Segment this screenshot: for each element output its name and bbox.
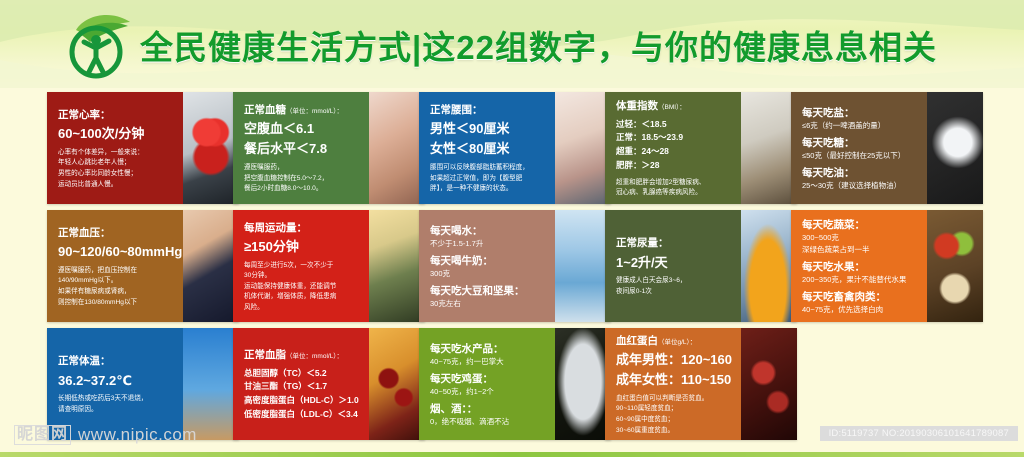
footer-bar [0,452,1024,457]
card-group-value: 300~500克 [802,233,918,244]
card-note-line: 餐后2小时血糖8.0～10.0。 [244,184,360,195]
blood-pressure-cuff-photo [183,210,239,322]
health-card-vegetables-fruit-meat: 每天吃蔬菜：300~500克深绿色蔬菜占到一半每天吃水果：200~350克，果汁… [791,210,983,322]
card-title: 正常血脂（单位：mmol/L）： [244,348,360,362]
card-note: 心率有个体差异，一般来说：年轻人心跳比老年人慢；男性的心率比同龄女性慢；运动员比… [58,148,174,190]
card-note-line: 140/90mmHg以下。 [58,276,174,287]
urine-sample-cup-photo [741,210,797,322]
health-card-blood-pressure: 正常血压：90~120/60~80mmHg遵医嘱服药，把血压控制在140/90m… [47,210,239,322]
card-text-blood-glucose: 正常血糖（单位：mmol/L）：空腹血＜6.1餐后水平＜7.8遵医嘱服药，把空腹… [233,92,369,204]
card-group-title: 每天吃畜禽肉类： [802,290,918,304]
card-note-line: 把空腹血糖控制在5.0～7.2， [244,174,360,185]
card-value: 60~100次/分钟 [58,126,174,143]
card-note-line: 健康成人白天会尿3~6， [616,276,732,287]
fingertip-glucose-test-photo [369,92,425,204]
health-card-aquatic-egg-smoke: 每天吃水产品：40~75克，约一巴掌大每天吃鸡蛋：40~50克，约1~2个烟、酒… [419,328,611,440]
card-text-blood-lipids: 正常血脂（单位：mmol/L）：总胆固醇（TC）＜5.2甘油三酯（TG）＜1.7… [233,328,369,440]
card-note: 健康成人白天会尿3~6，夜间尿0-1次 [616,276,732,297]
card-group: 每天吃糖：≤50克（最好控制在25克以下） [802,136,918,162]
pouring-water-glass-photo [555,210,611,322]
card-note-line: 遵医嘱服药，把血压控制在 [58,266,174,277]
card-group-value: 40~75克，约一巴掌大 [430,357,546,368]
card-group-value: 300克 [430,269,546,280]
weight-scale-photo [741,92,797,204]
card-value-list: 过轻：＜18.5正常：18.5～23.9超重：24～28肥胖：＞28 [616,118,732,173]
card-group: 每天吃油：25～30克（建议选择植物油） [802,166,918,192]
card-group-title: 每天吃鸡蛋： [430,372,546,386]
card-note: 血红蛋白值可以判断是否贫血。90~110属轻度贫血；60~90属中度贫血；30~… [616,394,732,436]
watermark: 昵图网 www.nipic.com [14,425,197,445]
card-note-line: 请查明原因。 [58,405,174,416]
card-title: 正常血压： [58,226,174,240]
card-note: 遵医嘱服药，把空腹血糖控制在5.0～7.2，餐后2小时血糖8.0～10.0。 [244,163,360,195]
card-text-water-milk-nuts: 每天喝水：不少于1.5-1.7升每天喝牛奶：300克每天吃大豆和坚果：30克左右 [419,210,555,322]
card-value-list-item: 高密度脂蛋白（HDL-C）＞1.0 [244,394,360,408]
card-note-line: 腰围可以反映腹部脂肪蓄积程度， [430,163,546,174]
watermark-url: www.nipic.com [78,425,197,445]
card-value-list-item: 总胆固醇（TC）＜5.2 [244,367,360,381]
card-group-title: 每天吃水产品： [430,342,546,356]
card-value-list-item: 甘油三酯（TG）＜1.7 [244,380,360,394]
vegetable-basket-photo [927,210,983,322]
card-title: 正常尿量： [616,236,732,250]
card-group: 每天喝水：不少于1.5-1.7升 [430,224,546,250]
card-note-line: 胖】，是一种不健康的状态。 [430,184,546,195]
card-group: 烟、酒：：0，绝不吸烟、滴酒不沾 [430,402,546,428]
salt-crystals-photo [927,92,983,204]
card-title: 体重指数（BMI）： [616,99,732,113]
card-note-line: 90~110属轻度贫血； [616,404,732,415]
card-group-title: 每天吃水果： [802,260,918,274]
card-note-line: 年轻人心跳比老年人慢； [58,158,174,169]
card-group-title: 每天吃蔬菜： [802,218,918,232]
card-value: 1~2升/天 [616,255,732,272]
card-title-unit: （单位g/L）： [658,339,696,346]
card-group-value: 不少于1.5-1.7升 [430,239,546,250]
poster-canvas: 全民健康生活方式|这22组数字，与你的健康息息相关 正常心率：60~100次/分… [0,0,1024,457]
card-text-vegetables-fruit-meat: 每天吃蔬菜：300~500克深绿色蔬菜占到一半每天吃水果：200~350克，果汁… [791,210,927,322]
card-note: 遵医嘱服药，把血压控制在140/90mmHg以下。如果伴有糖尿病或肾病，则控制在… [58,266,174,308]
card-value: 成年女性：110~150 [616,372,732,389]
watermark-logo-text: 昵图网 [14,425,71,445]
card-title: 正常血糖（单位：mmol/L）： [244,103,360,117]
fresh-fish-photo [555,328,611,440]
card-value-list-item: 超重：24～28 [616,145,732,159]
health-card-hemoglobin: 血红蛋白（单位g/L）：成年男性：120~160成年女性：110~150血红蛋白… [605,328,797,440]
card-note: 腰围可以反映腹部脂肪蓄积程度，如果超过正常值，即为【腹型肥胖】，是一种不健康的状… [430,163,546,195]
card-group-value: 0，绝不吸烟、滴酒不沾 [430,417,546,428]
card-group-value: 40~50克，约1~2个 [430,387,546,398]
card-group-title: 每天吃盐： [802,106,918,120]
card-title: 血红蛋白（单位g/L）： [616,334,732,348]
card-group-value: 30克左右 [430,299,546,310]
card-note-line: 心率有个体差异，一般来说： [58,148,174,159]
card-value-list-item: 正常：18.5～23.9 [616,131,732,145]
card-text-bmi: 体重指数（BMI）：过轻：＜18.5正常：18.5～23.9超重：24～28肥胖… [605,92,741,204]
card-title: 正常体温： [58,354,174,368]
card-text-urine-volume: 正常尿量：1~2升/天健康成人白天会尿3~6，夜间尿0-1次 [605,210,741,322]
card-note-line: 则控制在130/80mmHg以下 [58,298,174,309]
card-group: 每天吃水果：200~350克，果汁不能替代水果 [802,260,918,286]
card-note-line: 每周至少进行5次，一次不少于 [244,261,360,272]
card-group-value: ≤50克（最好控制在25克以下） [802,151,918,162]
health-card-bmi: 体重指数（BMI）：过轻：＜18.5正常：18.5～23.9超重：24～28肥胖… [605,92,797,204]
card-title-unit: （单位：mmol/L）： [286,108,343,115]
health-card-blood-glucose: 正常血糖（单位：mmol/L）：空腹血＜6.1餐后水平＜7.8遵医嘱服药，把空腹… [233,92,425,204]
wooden-thermometer-photo [183,328,239,440]
card-group-title: 烟、酒：： [430,402,546,416]
card-note: 每周至少进行5次，一次不少于30分钟。运动能保持健康体重，还能调节机体代谢，增强… [244,261,360,314]
card-text-heart-rate: 正常心率：60~100次/分钟心率有个体差异，一般来说：年轻人心跳比老年人慢；男… [47,92,183,204]
card-group-value: 25～30克（建议选择植物油） [802,181,918,192]
card-note: 超重和肥胖会增加2型糖尿病、冠心病、乳腺癌等疾病风险。 [616,178,732,199]
card-note-line: 运动员比普通人慢。 [58,180,174,191]
page-title: 全民健康生活方式|这22组数字，与你的健康息息相关 [140,14,1010,76]
healthy-lifestyle-logo [56,8,148,82]
card-text-salt-sugar-oil: 每天吃盐：≤6克（约一啤酒盖的量）每天吃糖：≤50克（最好控制在25克以下）每天… [791,92,927,204]
card-group-title: 每天吃大豆和坚果： [430,284,546,298]
running-woman-photo [369,210,425,322]
card-note-line: 男性的心率比同龄女性慢； [58,169,174,180]
card-text-blood-pressure: 正常血压：90~120/60~80mmHg遵医嘱服药，把血压控制在140/90m… [47,210,183,322]
card-title-unit: （BMI）： [658,104,686,111]
card-group: 每天喝牛奶：300克 [430,254,546,280]
card-note-line: 冠心病、乳腺癌等疾病风险。 [616,188,732,199]
card-note-line: 如果超过正常值，即为【腹型肥 [430,174,546,185]
health-card-water-milk-nuts: 每天喝水：不少于1.5-1.7升每天喝牛奶：300克每天吃大豆和坚果：30克左右 [419,210,611,322]
card-text-body-temperature: 正常体温：36.2~37.2℃长期低热或吃药后3天不退烧，请查明原因。 [47,328,183,440]
card-note-line: 机体代谢，增强体质，降低患病 [244,292,360,303]
card-note-line: 长期低热或吃药后3天不退烧， [58,394,174,405]
card-text-aquatic-egg-smoke: 每天吃水产品：40~75克，约一巴掌大每天吃鸡蛋：40~50克，约1~2个烟、酒… [419,328,555,440]
card-value: 男性＜90厘米 [430,121,546,138]
card-value: 36.2~37.2℃ [58,373,174,390]
card-group: 每天吃畜禽肉类：40~75克，优先选择白肉 [802,290,918,316]
card-group-title: 每天吃糖： [802,136,918,150]
card-title: 每周运动量： [244,221,360,235]
health-card-weekly-exercise: 每周运动量：≥150分钟每周至少进行5次，一次不少于30分钟。运动能保持健康体重… [233,210,425,322]
card-value: 90~120/60~80mmHg [58,244,174,261]
card-group-note: 深绿色蔬菜占到一半 [802,245,918,256]
card-value-list-item: 肥胖：＞28 [616,159,732,173]
health-card-heart-rate: 正常心率：60~100次/分钟心率有个体差异，一般来说：年轻人心跳比老年人慢；男… [47,92,239,204]
health-card-body-temperature: 正常体温：36.2~37.2℃长期低热或吃药后3天不退烧，请查明原因。 [47,328,239,440]
card-group: 每天吃盐：≤6克（约一啤酒盖的量） [802,106,918,132]
card-note-line: 超重和肥胖会增加2型糖尿病、 [616,178,732,189]
poster-header: 全民健康生活方式|这22组数字，与你的健康息息相关 [0,0,1024,88]
card-value: ≥150分钟 [244,239,360,256]
card-note-line: 如果伴有糖尿病或肾病， [58,287,174,298]
card-group-title: 每天喝牛奶： [430,254,546,268]
card-value-list: 总胆固醇（TC）＜5.2甘油三酯（TG）＜1.7高密度脂蛋白（HDL-C）＞1.… [244,367,360,422]
health-card-salt-sugar-oil: 每天吃盐：≤6克（约一啤酒盖的量）每天吃糖：≤50克（最好控制在25克以下）每天… [791,92,983,204]
health-card-blood-lipids: 正常血脂（单位：mmol/L）：总胆固醇（TC）＜5.2甘油三酯（TG）＜1.7… [233,328,425,440]
card-group-title: 每天吃油： [802,166,918,180]
card-grid: 正常心率：60~100次/分钟心率有个体差异，一般来说：年轻人心跳比老年人慢；男… [0,92,1024,432]
card-value: 女性＜80厘米 [430,141,546,158]
card-note-line: 遵医嘱服药， [244,163,360,174]
cholesterol-artery-photo [369,328,425,440]
card-note-line: 血红蛋白值可以判断是否贫血。 [616,394,732,405]
health-card-waist-circumference: 正常腰围：男性＜90厘米女性＜80厘米腰围可以反映腹部脂肪蓄积程度，如果超过正常… [419,92,611,204]
card-group-value: ≤6克（约一啤酒盖的量） [802,121,918,132]
card-note-line: 30分钟。 [244,271,360,282]
card-value-list-item: 过轻：＜18.5 [616,118,732,132]
image-id-tag: ID:5119737 NO:20190306101641789087 [820,426,1018,441]
card-group: 每天吃水产品：40~75克，约一巴掌大 [430,342,546,368]
card-title: 正常心率： [58,108,174,122]
card-note-line: 60~90属中度贫血； [616,415,732,426]
card-text-waist-circumference: 正常腰围：男性＜90厘米女性＜80厘米腰围可以反映腹部脂肪蓄积程度，如果超过正常… [419,92,555,204]
health-card-urine-volume: 正常尿量：1~2升/天健康成人白天会尿3~6，夜间尿0-1次 [605,210,797,322]
card-group-value: 200~350克，果汁不能替代水果 [802,275,918,286]
card-note-line: 30~60属重度贫血。 [616,426,732,437]
card-text-weekly-exercise: 每周运动量：≥150分钟每周至少进行5次，一次不少于30分钟。运动能保持健康体重… [233,210,369,322]
card-group: 每天吃大豆和坚果：30克左右 [430,284,546,310]
card-note-line: 夜间尿0-1次 [616,287,732,298]
card-note-line: 运动能保持健康体重，还能调节 [244,282,360,293]
card-title: 正常腰围： [430,103,546,117]
card-group-title: 每天喝水： [430,224,546,238]
card-text-hemoglobin: 血红蛋白（单位g/L）：成年男性：120~160成年女性：110~150血红蛋白… [605,328,741,440]
card-value-list-item: 低密度脂蛋白（LDL-C）＜3.4 [244,408,360,422]
card-note: 长期低热或吃药后3天不退烧，请查明原因。 [58,394,174,415]
card-value: 空腹血＜6.1 [244,121,360,138]
card-group: 每天吃蔬菜：300~500克深绿色蔬菜占到一半 [802,218,918,256]
card-group: 每天吃鸡蛋：40~50克，约1~2个 [430,372,546,398]
red-blood-cells-photo [741,328,797,440]
card-note-line: 风险。 [244,303,360,314]
heart-stethoscope-photo [183,92,239,204]
card-title-unit: （单位：mmol/L）： [286,353,343,360]
card-group-value: 40~75克，优先选择白肉 [802,305,918,316]
card-value: 餐后水平＜7.8 [244,141,360,158]
card-value: 成年男性：120~160 [616,352,732,369]
waist-measure-photo [555,92,611,204]
